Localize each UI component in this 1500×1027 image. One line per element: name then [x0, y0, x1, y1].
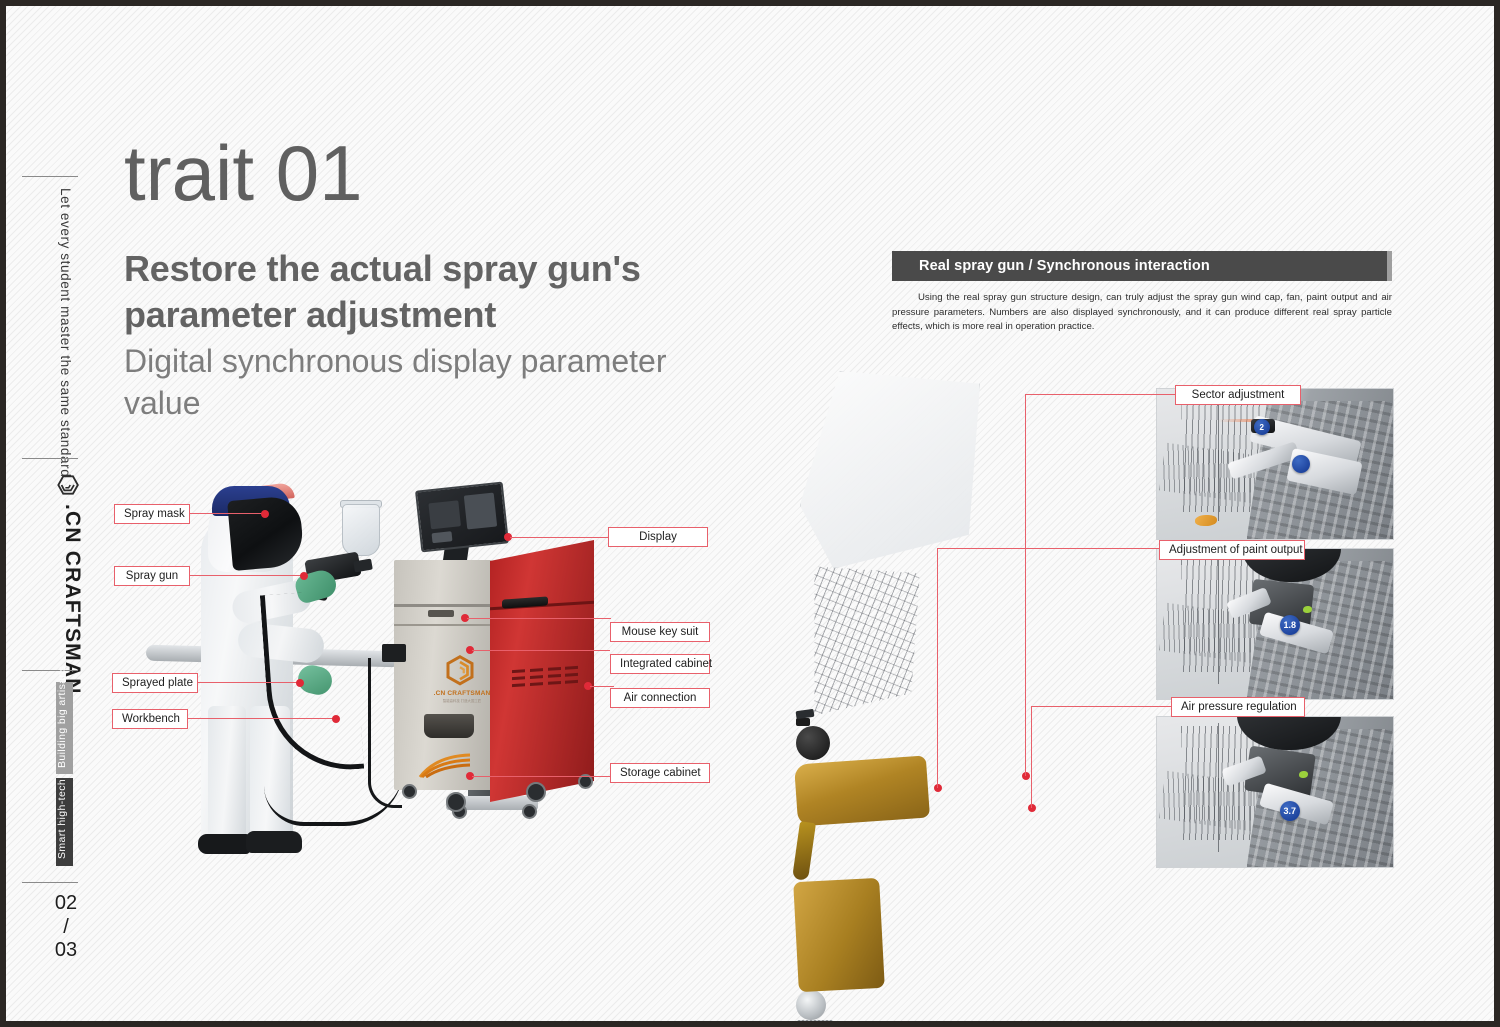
lead-storage-cabinet [472, 776, 612, 777]
gun-air-cap [796, 726, 830, 760]
sim-sector-adjustment: 2 [1156, 388, 1394, 540]
gun-trigger [792, 821, 816, 881]
cabinet-seam-upper [394, 604, 492, 607]
brochure-page: Let every student master the same standa… [6, 6, 1494, 1021]
rail-divider-low [22, 670, 78, 671]
cabinet-logo-icon [442, 652, 478, 690]
sim1-badge-sector: 2 [1254, 419, 1270, 435]
sim1-badge-secondary [1292, 455, 1310, 473]
lead-display [510, 537, 608, 538]
section-number: trait 01 [124, 134, 362, 212]
cabinet-seam-lower [394, 624, 492, 626]
paint-output-knob [796, 990, 826, 1020]
cabinet-vent-icon [510, 664, 580, 694]
cabinet-logo-subtext: 智能高科技 打造大国工匠 [432, 698, 492, 703]
rail-divider-mid [22, 458, 78, 459]
cabinet-orange-stripes-icon [416, 752, 472, 778]
sector-adjust-knob [796, 1020, 834, 1021]
callout-sector-adjustment[interactable]: Sector adjustment [1175, 385, 1301, 405]
callout-storage-cabinet[interactable]: Storage cabinet [610, 763, 710, 783]
callout-workbench[interactable]: Workbench [112, 709, 188, 729]
left-rail: Let every student master the same standa… [6, 6, 98, 1021]
lead-air-h [1031, 706, 1171, 707]
callout-mouse-key-suit[interactable]: Mouse key suit [610, 622, 710, 642]
sim3-guideline [1218, 723, 1219, 852]
rail-divider-bottom [22, 882, 78, 883]
callout-display[interactable]: Display [608, 527, 708, 547]
spray-gun-cup [342, 504, 380, 556]
worker-shoe-left [198, 834, 250, 854]
cabinet-logo-text: .CN CRAFTSMAN [432, 690, 492, 697]
right-panel-header: Real spray gun / Synchronous interaction [892, 251, 1392, 281]
cone-clip [796, 709, 815, 719]
paper-cone-filter [786, 357, 997, 572]
training-system-photo: .CN CRAFTSMAN 智能高科技 打造大国工匠 [146, 476, 626, 866]
monitor-content-left [428, 500, 461, 529]
mouse-key-suit-slot [428, 610, 454, 617]
callout-spray-gun[interactable]: Spray gun [114, 566, 190, 586]
page-subtitle: Digital synchronous display parameter va… [124, 340, 724, 424]
power-cord [368, 658, 402, 808]
spray-gun-nozzle [353, 559, 373, 573]
lead-spray-gun [190, 575, 304, 576]
gun-head [794, 755, 930, 826]
spray-mask-visor [227, 495, 305, 571]
spray-gun-detail-photo: 2 1.8 3.7 [796, 366, 1416, 1006]
worker-leg-left [208, 706, 246, 848]
right-panel-header-label: Real spray gun / Synchronous interaction [892, 251, 1387, 281]
storage-cabinet-tray [424, 714, 474, 738]
callout-integrated-cabinet[interactable]: Integrated cabinet [610, 654, 710, 674]
gun-air-inlet [796, 718, 810, 726]
lead-paint-h [937, 548, 1159, 549]
dot-workbench [332, 715, 340, 723]
page-total: 03 [46, 939, 86, 963]
cabinet-caster-2 [446, 792, 466, 812]
sim-air-pressure: 3.7 [1156, 716, 1394, 868]
lead-workbench [188, 718, 336, 719]
lead-sector-v [1025, 394, 1026, 776]
callout-air-connection[interactable]: Air connection [610, 688, 710, 708]
rail-slogan: Let every student master the same standa… [58, 188, 73, 477]
callout-air-pressure[interactable]: Air pressure regulation [1171, 697, 1305, 717]
sim3-indicator [1299, 771, 1308, 778]
sim1-guideline [1218, 395, 1219, 521]
page-current: 02 [46, 892, 86, 916]
tag-smart-high-tech: Smart high-tech [56, 778, 73, 866]
sim2-guideline [1218, 555, 1219, 684]
dot-sprayed-plate [296, 679, 304, 687]
monitor-content-bottom [432, 531, 453, 543]
dot-spray-mask [261, 510, 269, 518]
workbench-caster-right [522, 804, 537, 819]
paper-cone-print [789, 556, 934, 717]
lead-mouse-key-suit [467, 618, 611, 619]
lead-sector-h [1025, 394, 1175, 395]
sim1-paint-splash [1195, 515, 1217, 526]
page-number: 02 / 03 [46, 892, 86, 963]
page-separator: / [46, 916, 86, 940]
cabinet-caster-3 [526, 782, 546, 802]
lead-paint-v [937, 548, 938, 788]
callout-spray-mask[interactable]: Spray mask [114, 504, 190, 524]
cabinet-caster-1 [402, 784, 417, 799]
display-monitor [415, 482, 509, 553]
lead-integrated-cabinet [472, 650, 610, 651]
worker-shoe-right [246, 831, 302, 853]
lead-sprayed-plate [198, 682, 300, 683]
hexagon-spiral-logo-icon [54, 472, 80, 498]
sim2-badge-paint-output: 1.8 [1280, 615, 1300, 635]
lead-air-connection [590, 686, 614, 687]
monitor-content-right [464, 493, 497, 530]
lead-air-v [1031, 706, 1032, 808]
rail-divider-top [22, 176, 78, 177]
lead-spray-mask [190, 513, 265, 514]
page-title: Restore the actual spray gun's parameter… [124, 246, 724, 338]
right-panel-body: Using the real spray gun structure desig… [892, 291, 1392, 335]
sim3-badge-air-pressure: 3.7 [1280, 801, 1300, 821]
sim-paint-output: 1.8 [1156, 548, 1394, 700]
callout-sprayed-plate[interactable]: Sprayed plate [112, 673, 198, 693]
dot-spray-gun [300, 572, 308, 580]
callout-paint-output[interactable]: Adjustment of paint output [1159, 540, 1305, 560]
tag-building-big-artisans: Building big artisans [56, 682, 73, 774]
gun-body [793, 878, 885, 992]
